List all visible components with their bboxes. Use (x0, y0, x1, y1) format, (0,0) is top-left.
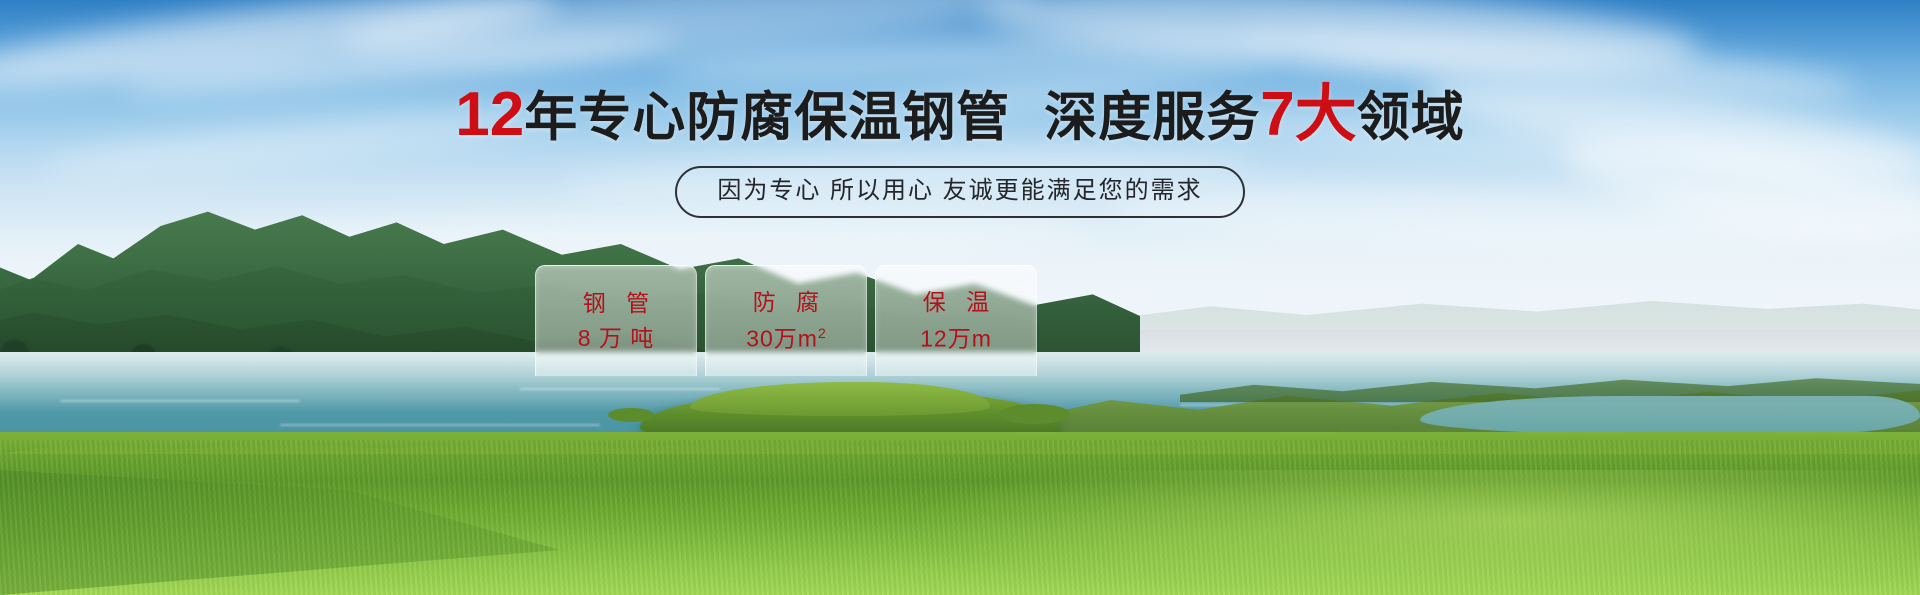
stat-card-label: 防 腐 (746, 291, 826, 314)
headline-segment-one: 年专心防腐保温钢管 (524, 88, 1010, 147)
stat-card-label: 钢 管 (576, 292, 656, 315)
hero-banner: 12年专心防腐保温钢管深度服务7大领域 因为专心 所以用心 友诚更能满足您的需求… (0, 0, 1920, 595)
stat-card-anticorrosion[interactable]: 防 腐 30万m2 (705, 265, 867, 376)
headline-segment-two: 深度服务 (1044, 88, 1260, 147)
banner-subtitle-wrap: 因为专心 所以用心 友诚更能满足您的需求 (0, 166, 1920, 218)
stat-card-value-text: 8 万 吨 (578, 325, 655, 351)
stat-card-steel-pipe[interactable]: 钢 管 8 万 吨 (535, 265, 697, 376)
stat-card-value: 30万m2 (746, 326, 826, 351)
headline-years-number: 12 (455, 80, 524, 149)
stat-card-label: 保 温 (916, 291, 996, 314)
stat-card-value-text: 30万m (746, 326, 818, 352)
headline-fields-number: 7大 (1260, 80, 1356, 149)
stat-card-value: 12万m (920, 326, 992, 351)
stat-card-value: 8 万 吨 (578, 327, 655, 350)
stat-card-value-superscript: 2 (818, 325, 826, 341)
banner-headline: 12年专心防腐保温钢管深度服务7大领域 (0, 84, 1920, 146)
banner-content: 12年专心防腐保温钢管深度服务7大领域 因为专心 所以用心 友诚更能满足您的需求… (0, 0, 1920, 595)
headline-segment-three: 领域 (1357, 88, 1465, 147)
stat-card-value-text: 12万m (920, 326, 992, 352)
banner-subtitle-pill: 因为专心 所以用心 友诚更能满足您的需求 (675, 166, 1244, 218)
stat-card-insulation[interactable]: 保 温 12万m (875, 265, 1037, 376)
stat-card-group: 钢 管 8 万 吨 防 腐 30万m2 保 温 12万m (535, 265, 1037, 376)
